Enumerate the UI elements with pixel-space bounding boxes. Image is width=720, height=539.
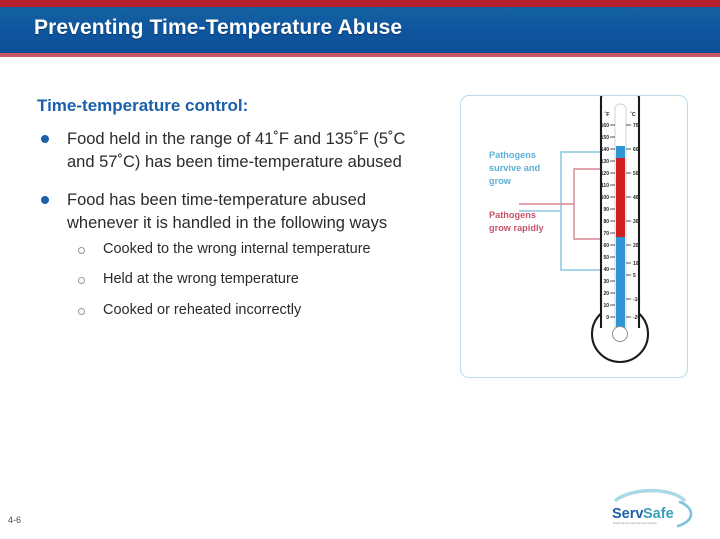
svg-text:30: 30 bbox=[603, 279, 609, 285]
content-heading: Time-temperature control: bbox=[37, 96, 248, 116]
bullet-text: Food has been time-temperature abused wh… bbox=[67, 191, 387, 232]
svg-text:90: 90 bbox=[603, 207, 609, 213]
svg-text:0: 0 bbox=[606, 315, 609, 321]
svg-text:150: 150 bbox=[601, 135, 610, 141]
bullet-text: Food held in the range of 41˚F and 135˚F… bbox=[67, 130, 405, 171]
slide-header: Preventing Time-Temperature Abuse bbox=[0, 0, 720, 58]
mercury-cold-lower bbox=[616, 236, 625, 328]
page-number: 4-6 bbox=[8, 515, 21, 525]
svg-text:120: 120 bbox=[601, 171, 610, 177]
callout-label-grow-rapidly-line2: grow rapidly bbox=[489, 223, 545, 233]
svg-text:70: 70 bbox=[633, 123, 639, 129]
svg-text:40: 40 bbox=[633, 195, 639, 201]
svg-text:130: 130 bbox=[601, 159, 610, 165]
sub-bullet-text: Cooked or reheated incorrectly bbox=[103, 302, 301, 318]
svg-text:60: 60 bbox=[603, 243, 609, 249]
callout-label-survive-grow-line1: Pathogens bbox=[489, 150, 536, 160]
bullet-circle-outline-icon bbox=[78, 308, 85, 315]
header-bottom-accent-stripe bbox=[0, 53, 720, 57]
callout-label-grow-rapidly-line1: Pathogens bbox=[489, 210, 536, 220]
logo-swoosh-arc-icon bbox=[678, 502, 691, 526]
mercury-hot-band bbox=[616, 157, 625, 237]
bullet-circle-outline-icon bbox=[78, 247, 85, 254]
bullet-list: Food held in the range of 41˚F and 135˚F… bbox=[37, 128, 437, 334]
sub-bullet-list: Cooked to the wrong internal temperature… bbox=[73, 240, 437, 321]
svg-text:50: 50 bbox=[603, 255, 609, 261]
svg-text:30: 30 bbox=[633, 219, 639, 225]
svg-text:100: 100 bbox=[601, 195, 610, 201]
logo-swoosh-top-icon bbox=[616, 491, 684, 500]
scale-label-celsius: ˚C bbox=[630, 111, 636, 118]
svg-text:50: 50 bbox=[633, 171, 639, 177]
svg-text:20: 20 bbox=[633, 243, 639, 249]
mercury-cold-upper bbox=[616, 146, 625, 158]
sub-bullet-text: Held at the wrong temperature bbox=[103, 271, 299, 287]
thermometer-danger-zone-diagram: ˚F ˚C 160 bbox=[460, 95, 688, 378]
thermometer-illustration: ˚F ˚C 160 bbox=[461, 96, 687, 377]
svg-text:110: 110 bbox=[601, 183, 609, 189]
svg-text:10: 10 bbox=[633, 261, 639, 267]
logo-tagline: National Restaurant Association bbox=[613, 521, 657, 525]
list-item: Cooked or reheated incorrectly bbox=[73, 301, 437, 321]
callout-label-survive-grow-line3: grow bbox=[489, 176, 512, 186]
bulb-inner-circle bbox=[613, 327, 628, 342]
svg-text:20: 20 bbox=[603, 291, 609, 297]
bullet-dot-icon bbox=[41, 135, 49, 143]
svg-text:5: 5 bbox=[633, 273, 636, 279]
servsafe-logo-mark: Serv Safe National Restaurant Associatio… bbox=[600, 488, 708, 532]
svg-text:-20: -20 bbox=[633, 315, 640, 321]
list-item: Food has been time-temperature abused wh… bbox=[37, 189, 437, 321]
svg-text:40: 40 bbox=[603, 267, 609, 273]
logo-text-secondary: Safe bbox=[643, 506, 674, 522]
list-item: Food held in the range of 41˚F and 135˚F… bbox=[37, 128, 437, 175]
svg-text:80: 80 bbox=[603, 219, 609, 225]
bullet-dot-icon bbox=[41, 196, 49, 204]
bullet-circle-outline-icon bbox=[78, 277, 85, 284]
list-item: Cooked to the wrong internal temperature bbox=[73, 240, 437, 260]
logo-text-primary: Serv bbox=[612, 506, 643, 522]
header-top-accent-stripe bbox=[0, 0, 720, 7]
scale-label-fahrenheit: ˚F bbox=[604, 111, 610, 118]
svg-text:160: 160 bbox=[601, 123, 610, 129]
svg-text:60: 60 bbox=[633, 147, 639, 153]
list-item: Held at the wrong temperature bbox=[73, 270, 437, 290]
servsafe-logo: Serv Safe National Restaurant Associatio… bbox=[600, 488, 708, 532]
svg-text:140: 140 bbox=[601, 147, 610, 153]
svg-text:70: 70 bbox=[603, 231, 609, 237]
callout-label-survive-grow-line2: survive and bbox=[489, 163, 540, 173]
page-title: Preventing Time-Temperature Abuse bbox=[34, 16, 402, 40]
svg-text:-10: -10 bbox=[633, 297, 640, 303]
svg-text:10: 10 bbox=[603, 303, 609, 309]
sub-bullet-text: Cooked to the wrong internal temperature bbox=[103, 241, 371, 257]
